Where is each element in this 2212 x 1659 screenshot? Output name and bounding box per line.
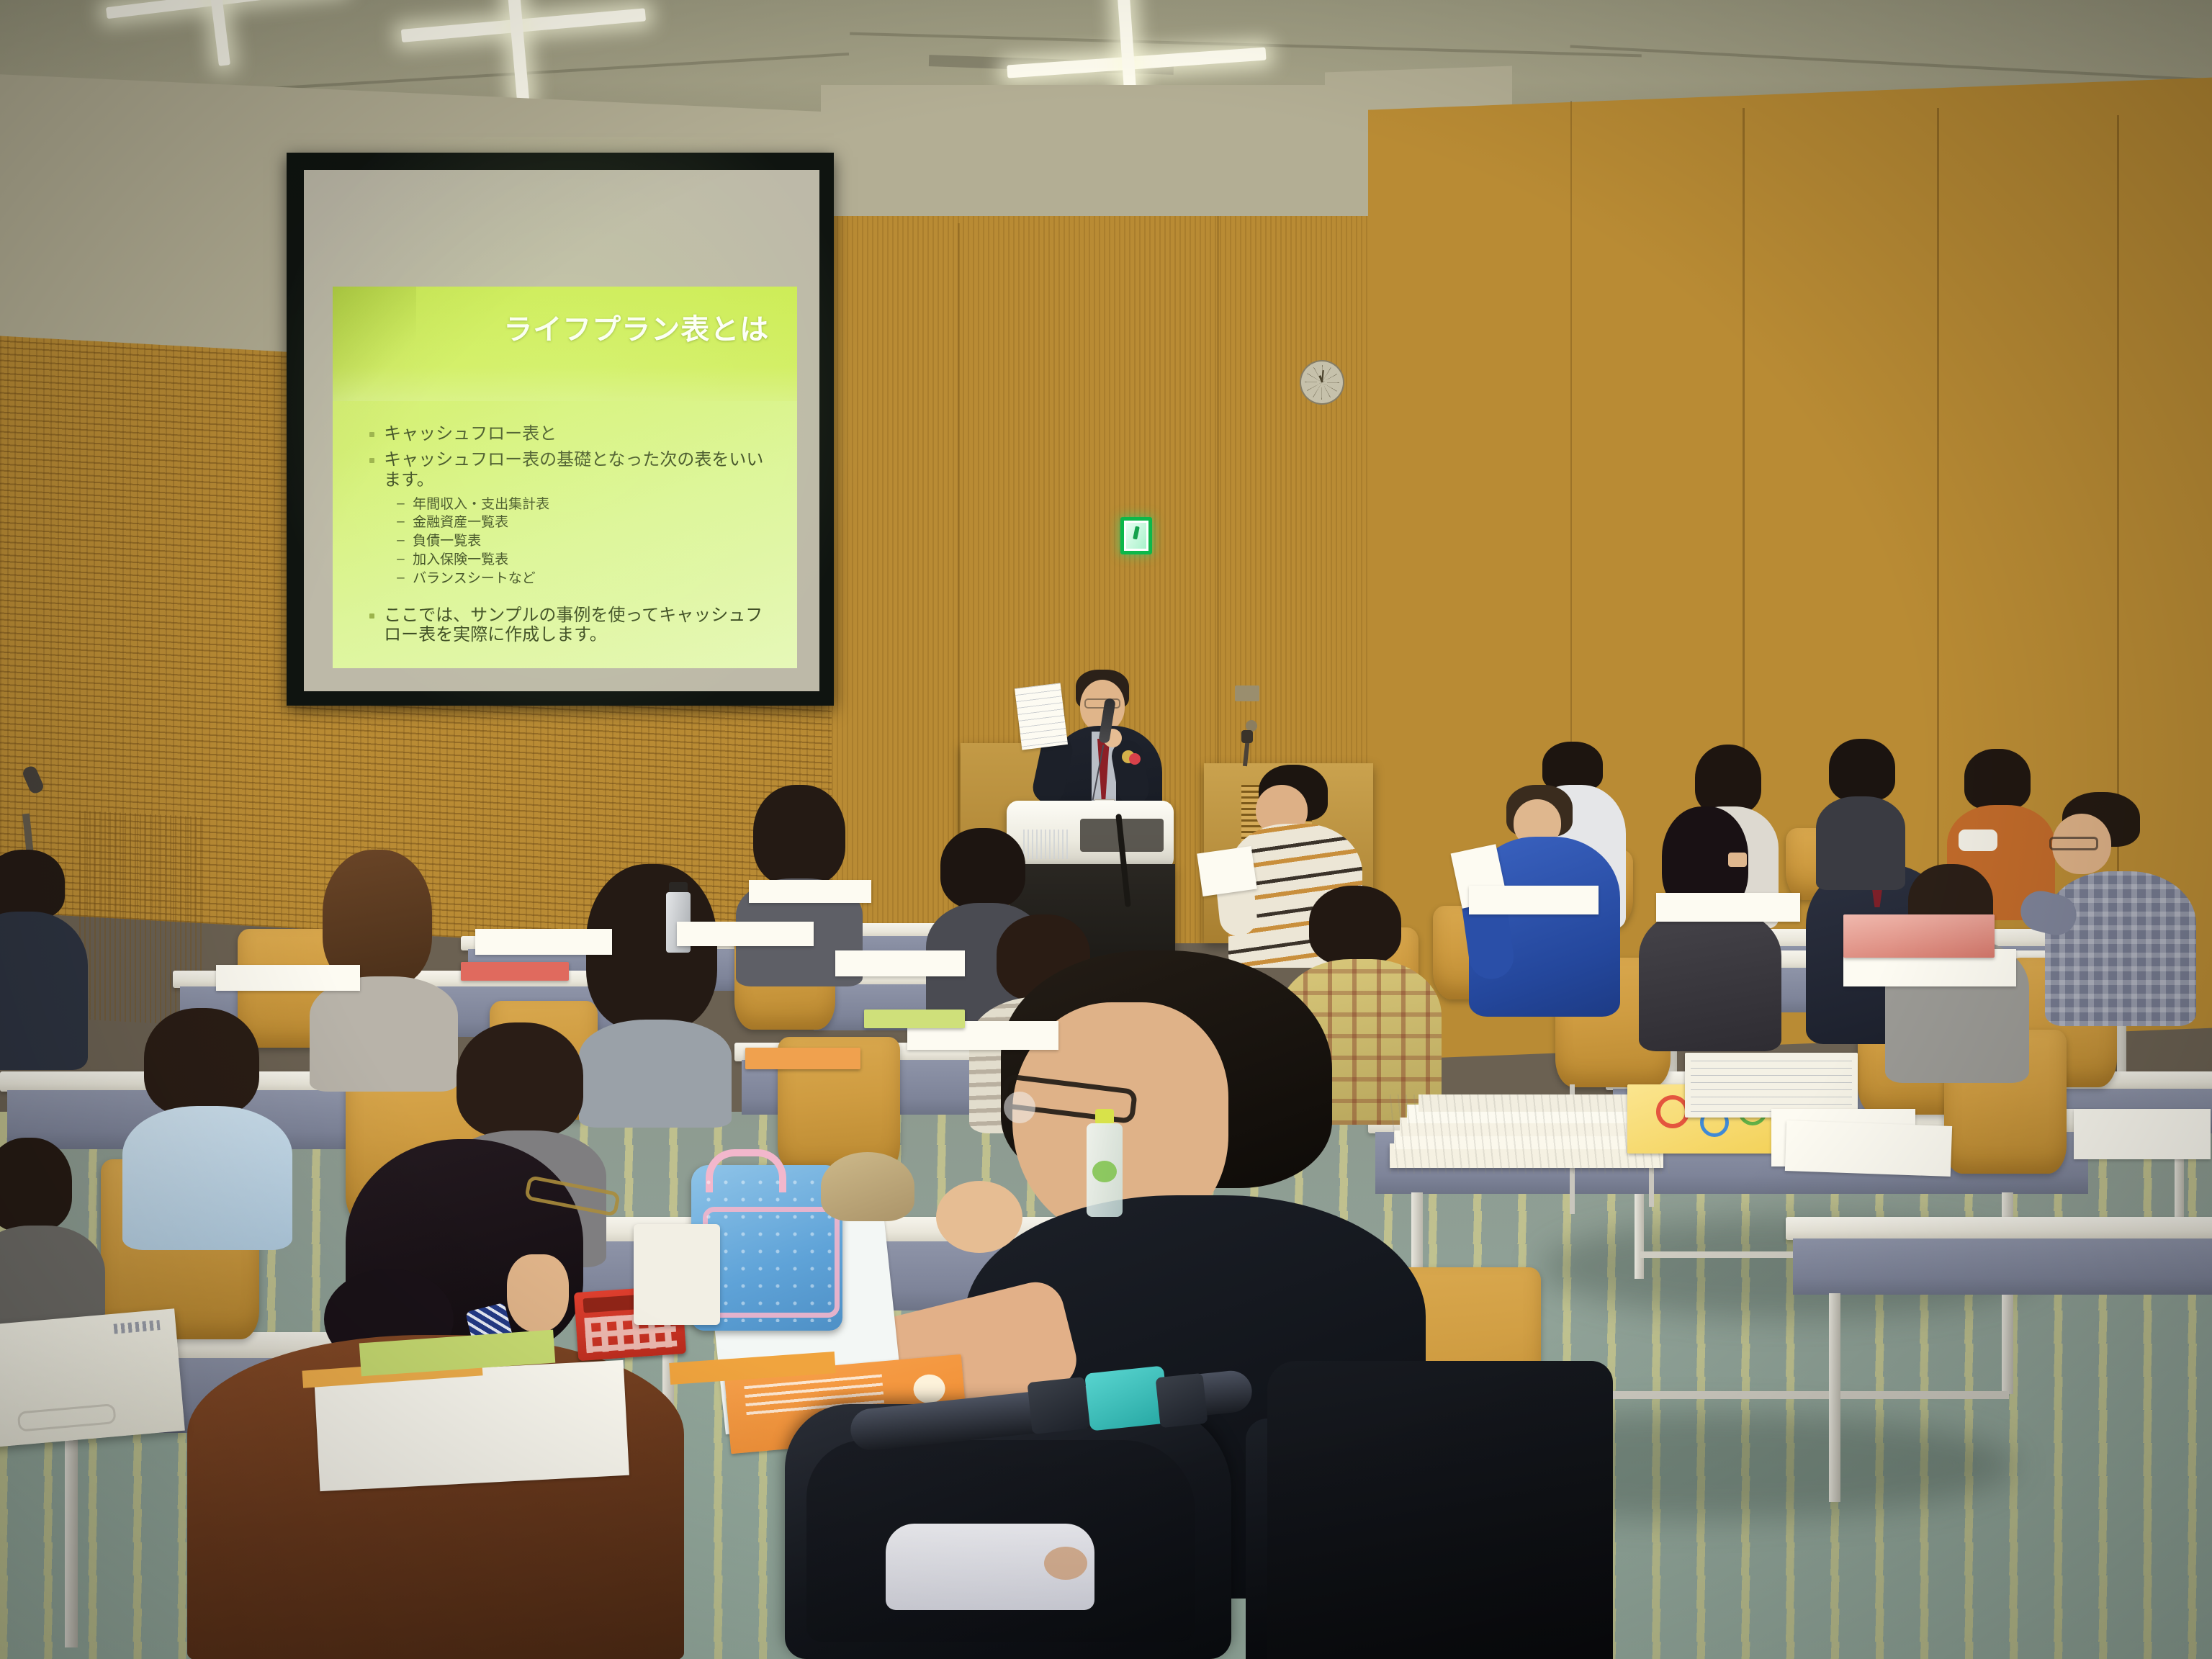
- table-paper[interactable]: [749, 880, 871, 903]
- table-document[interactable]: [1685, 1053, 1858, 1118]
- slide-bullet: キャッシュフロー表の基礎となった次の表をいいます。: [365, 450, 778, 490]
- orange-handout[interactable]: [745, 1048, 860, 1069]
- wall-clock: [1300, 360, 1344, 405]
- attendee-glasses: [2049, 837, 2098, 850]
- slide-subbullet: 年間収入・支出集計表: [397, 497, 778, 513]
- green-handout[interactable]: [864, 1010, 965, 1028]
- attendee-cheek: [507, 1254, 569, 1332]
- table-paper[interactable]: [2074, 1109, 2211, 1159]
- white-folder[interactable]: [0, 1308, 185, 1449]
- attendee-dark-ponytail: [1627, 806, 1793, 1051]
- slide-body: キャッシュフロー表と キャッシュフロー表の基礎となった次の表をいいます。 年間収…: [365, 424, 778, 652]
- stroller-handle-strap: [1084, 1365, 1169, 1431]
- slide-subbullet: 加入保険一覧表: [397, 552, 778, 569]
- attendee-dark-head-back: [1807, 739, 1915, 883]
- table-paper[interactable]: [677, 922, 814, 946]
- attendee-face: [1728, 853, 1747, 867]
- red-handout[interactable]: [461, 962, 569, 981]
- slide-bullet: キャッシュフロー表と: [365, 424, 778, 444]
- folder-logo: [114, 1320, 161, 1334]
- presenter-document: [1015, 683, 1068, 750]
- table-paper[interactable]: [1785, 1120, 1952, 1177]
- wall-outlet: [1235, 685, 1259, 701]
- open-magazine[interactable]: [1843, 914, 1995, 958]
- stroller-clip: [1027, 1377, 1089, 1434]
- water-bottle[interactable]: [1084, 1109, 1125, 1217]
- attendee-booklet: [1197, 846, 1257, 896]
- bottle-label: [1092, 1161, 1117, 1182]
- slide-subbullet: バランスシートなど: [397, 571, 778, 588]
- attendee-dark-jacket-left-edge: [0, 850, 94, 1066]
- wall-seam: [958, 223, 960, 929]
- baby-stroller[interactable]: [742, 1354, 1289, 1659]
- presentation-slide: ライフプラン表とは キャッシュフロー表と キャッシュフロー表の基礎となった次の表…: [333, 287, 797, 668]
- desk-foreground-far-right: [1786, 1217, 2212, 1303]
- exit-sign: [1120, 517, 1152, 554]
- table-paper[interactable]: [475, 929, 612, 955]
- table-paper[interactable]: [1469, 886, 1599, 914]
- slide-subbullet: 負債一覧表: [397, 534, 778, 550]
- stroller-clip: [1156, 1373, 1208, 1429]
- attendee-raised-hand: [936, 1181, 1022, 1253]
- table-paper[interactable]: [835, 950, 965, 976]
- glasses-lens-glare: [1004, 1092, 1035, 1123]
- seminar-room-photo: ライフプラン表とは キャッシュフロー表と キャッシュフロー表の基礎となった次の表…: [0, 0, 2212, 1659]
- attendee-checkered-shirt: [2045, 792, 2211, 1030]
- baby-head: [1044, 1547, 1087, 1580]
- lectern-microphone: [1241, 730, 1253, 743]
- straw-hat: [821, 1152, 914, 1221]
- slide-subbullet: 金融資産一覧表: [397, 515, 778, 531]
- presenter-lapel-pin: [1129, 753, 1141, 765]
- table-paper[interactable]: [216, 965, 360, 991]
- attendee-collar: [1959, 829, 1997, 851]
- table-paper[interactable]: [1656, 893, 1800, 922]
- draped-coat: [1267, 1361, 1613, 1659]
- tote-bag: [634, 1224, 720, 1325]
- folder-handle: [17, 1403, 117, 1432]
- slide-title: ライフプラン表とは: [503, 306, 769, 348]
- slide-bullet: ここでは、サンプルの事例を使ってキャッシュフロー表を実際に作成します。: [365, 606, 778, 645]
